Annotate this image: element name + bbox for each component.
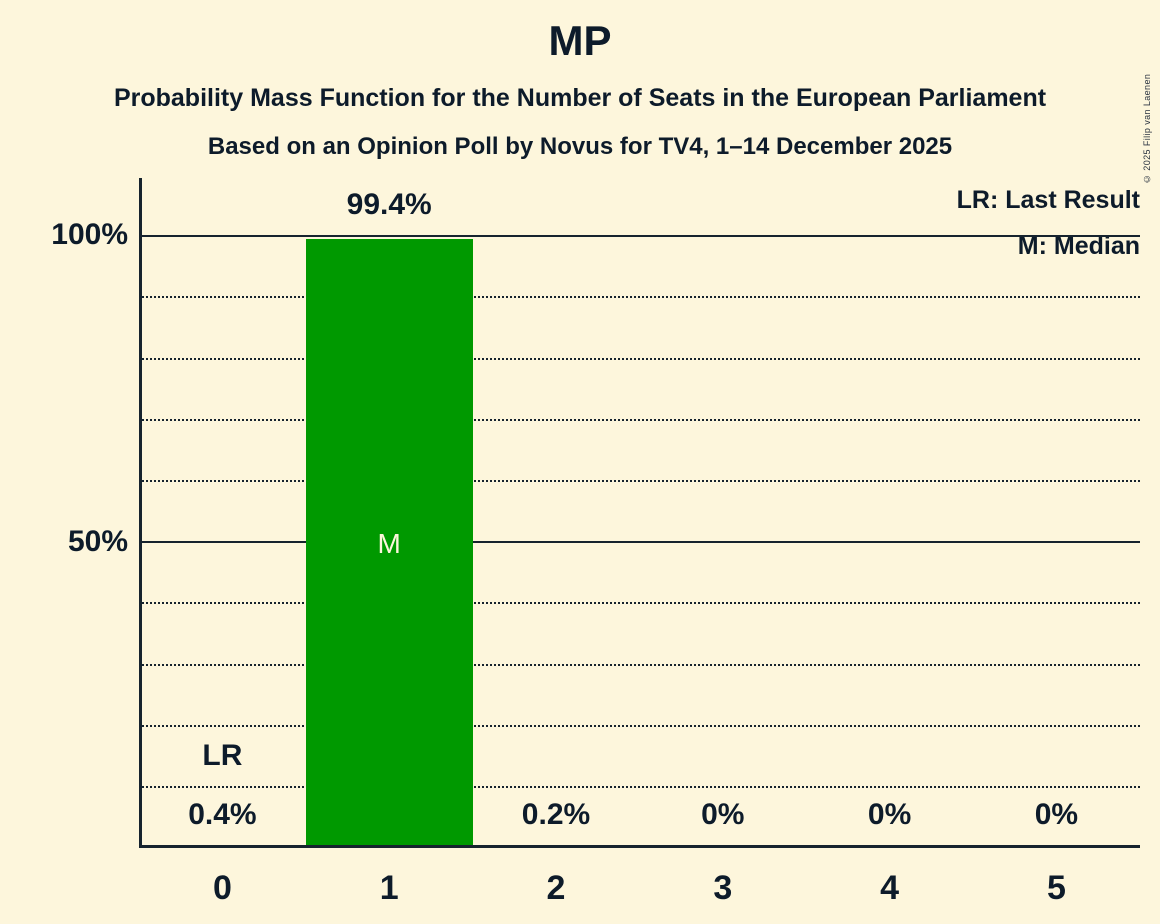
copyright-notice: © 2025 Filip van Laenen <box>1142 4 1158 184</box>
value-label-0: 0.4% <box>139 800 306 830</box>
bar-column-2 <box>473 235 640 847</box>
x-axis-tick-3: 3 <box>639 871 806 905</box>
bar-column-3 <box>639 235 806 847</box>
value-label-3: 0% <box>639 800 806 830</box>
page-title: MP <box>0 20 1160 62</box>
value-label-2: 0.2% <box>473 800 640 830</box>
bar-column-1: M <box>306 235 473 847</box>
y-axis-tick-100: 100% <box>51 220 128 250</box>
x-axis-tick-2: 2 <box>473 871 640 905</box>
bar-1[interactable]: M <box>306 239 473 847</box>
value-label-5: 0% <box>973 800 1140 830</box>
last-result-marker: LR <box>139 741 306 771</box>
chart-subtitle-line2: Based on an Opinion Poll by Novus for TV… <box>0 135 1160 159</box>
median-marker: M <box>306 530 473 558</box>
y-axis-tick-50: 50% <box>68 527 128 557</box>
x-axis-line <box>139 845 1140 848</box>
bar-column-4 <box>806 235 973 847</box>
value-label-4: 0% <box>806 800 973 830</box>
chart-subtitle-line1: Probability Mass Function for the Number… <box>0 86 1160 111</box>
x-axis-tick-5: 5 <box>973 871 1140 905</box>
bar-column-5 <box>973 235 1140 847</box>
x-axis-tick-1: 1 <box>306 871 473 905</box>
x-axis-tick-4: 4 <box>806 871 973 905</box>
chart-page: MP Probability Mass Function for the Num… <box>0 0 1160 924</box>
x-axis-tick-0: 0 <box>139 871 306 905</box>
